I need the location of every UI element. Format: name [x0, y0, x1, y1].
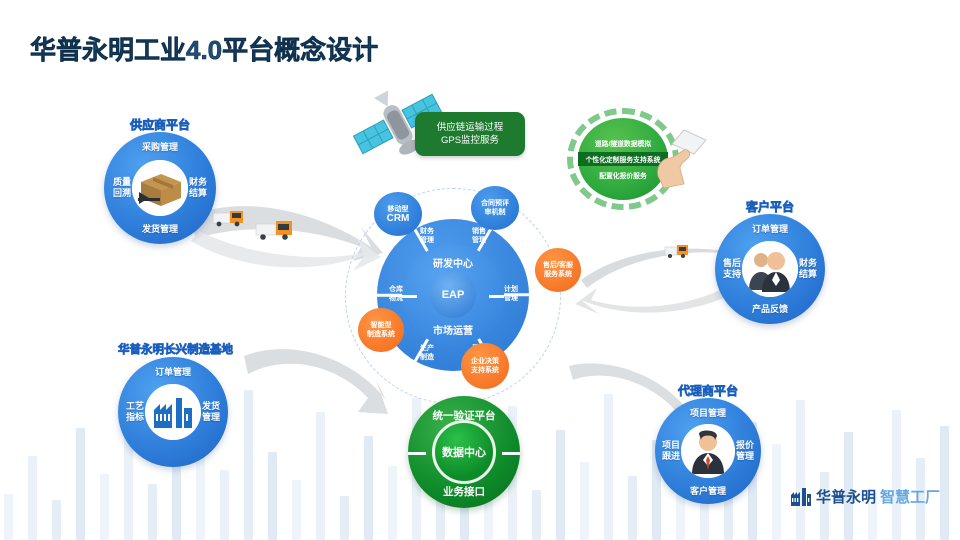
eap-inner-bottom-label: 市场运营 — [402, 322, 504, 337]
logo-name-dark: 华普永明 — [816, 486, 876, 507]
bubble-smart-mfg-line1: 智能型 — [371, 321, 392, 330]
two-people-icon — [745, 246, 795, 292]
custom-service-item-0: 道路/隧道数据模拟 — [595, 138, 651, 148]
bubble-contract-line2: 审机制 — [485, 208, 506, 217]
carton-box-icon — [135, 168, 185, 208]
agent-platform-left-label: 项目跟进 — [657, 440, 685, 462]
agent-platform-bottom-label: 客户管理 — [655, 486, 761, 497]
agent-platform-right-label: 报价管理 — [731, 440, 759, 462]
bubble-decision-line1: 企业决策 — [471, 357, 499, 366]
delivery-truck-icon-3 — [664, 243, 690, 259]
delivery-truck-icon-2 — [255, 218, 295, 242]
bubble-mobile-crm-line2: CRM — [387, 214, 410, 223]
background-bar — [940, 426, 949, 540]
slide-canvas: 华普永明工业4.0平台概念设计 — [0, 0, 960, 540]
manufacturing-base-top-label: 订单管理 — [118, 367, 228, 378]
hand-tablet-icon — [650, 124, 710, 192]
supplier-platform-hub — [132, 160, 188, 216]
manufacturing-base-left-label: 工艺指标 — [121, 401, 149, 423]
supplier-platform-bottom-label: 发货管理 — [104, 224, 216, 235]
data-center-bottom-label: 业务接口 — [408, 484, 520, 499]
background-bar — [76, 428, 85, 540]
manufacturing-base-title: 华普永明长兴制造基地 — [118, 341, 228, 357]
background-bar — [388, 466, 397, 540]
manufacturing-base-platform[interactable]: 华普永明长兴制造基地 订单管理 工艺指标 发货管理 — [118, 357, 228, 467]
bubble-smart-mfg-line2: 制造系统 — [367, 330, 395, 339]
custom-service-item-2: 配置化报价服务 — [599, 170, 647, 180]
page-title: 华普永明工业4.0平台概念设计 — [30, 30, 378, 67]
eap-ring-label-production: 生产制造 — [414, 345, 440, 362]
background-bar — [292, 480, 301, 540]
supplier-platform-right-label: 财务结算 — [184, 177, 212, 199]
supplier-platform-left-label: 质量回溯 — [108, 177, 136, 199]
manufacturing-base-right-label: 发货管理 — [197, 401, 225, 423]
background-bar — [148, 484, 157, 540]
supplier-platform-title: 供应商平台 — [104, 116, 216, 133]
background-bar — [580, 462, 589, 540]
background-bar — [364, 436, 373, 540]
gps-banner-line2: GPS监控服务 — [441, 134, 499, 147]
brand-logo: 华普永明 智慧工厂 — [790, 486, 940, 507]
background-bar — [628, 476, 637, 540]
bubble-contract-pre-review[interactable]: 合同预评 审机制 — [471, 186, 519, 230]
eap-core: EAP — [430, 272, 476, 318]
background-bar — [100, 474, 109, 540]
background-bar — [340, 496, 349, 540]
bubble-contract-line1: 合同预评 — [481, 199, 509, 208]
background-bar — [772, 444, 781, 540]
logo-name-light: 智慧工厂 — [880, 486, 940, 507]
background-bar — [892, 410, 901, 540]
eap-inner-top-label: 研发中心 — [402, 255, 504, 270]
customer-platform-bottom-label: 产品反馈 — [715, 304, 825, 315]
delivery-truck-icon-1 — [212, 208, 246, 228]
background-bar — [556, 430, 565, 540]
supplier-platform-top-label: 采购管理 — [104, 142, 216, 153]
background-bar — [796, 400, 805, 540]
bubble-aftersales-service[interactable]: 售后/客服 服务系统 — [535, 248, 581, 292]
agent-platform[interactable]: 代理商平台 项目管理 项目跟进 报价管理 客户管理 — [655, 398, 761, 504]
bubble-smart-manufacturing[interactable]: 智能型 制造系统 — [358, 308, 404, 352]
eap-ring-label-finance: 财务管理 — [414, 228, 440, 245]
customer-platform-left-label: 售后支持 — [718, 258, 746, 280]
bubble-decision-line2: 支持系统 — [471, 366, 499, 375]
data-center-core: 数据中心 — [432, 420, 496, 484]
agent-platform-top-label: 项目管理 — [655, 408, 761, 419]
bubble-mobile-crm[interactable]: 移动型 CRM — [374, 192, 422, 236]
eap-ring-label-warehouse: 仓库物流 — [383, 286, 409, 303]
background-bar — [28, 456, 37, 540]
gps-monitoring-banner: 供应链运输过程 GPS监控服务 — [415, 112, 525, 156]
bubble-aftersales-line1: 售后/客服 — [543, 261, 573, 270]
customer-platform-top-label: 订单管理 — [715, 224, 825, 235]
background-bar — [268, 452, 277, 540]
customer-platform-title: 客户平台 — [715, 198, 825, 215]
gps-banner-line1: 供应链运输过程 — [437, 121, 504, 134]
customer-platform[interactable]: 客户平台 订单管理 售后支持 财务结算 产品反馈 — [715, 214, 825, 324]
factory-icon — [152, 394, 194, 430]
agent-platform-hub — [681, 424, 735, 478]
factory-logo-icon — [790, 487, 812, 507]
bubble-aftersales-line2: 服务系统 — [544, 270, 572, 279]
supplier-platform[interactable]: 供应商平台 采购管理 质量回溯 财务结算 发货管理 — [104, 132, 216, 244]
customer-platform-hub — [742, 241, 798, 297]
eap-ring-label-planning: 计划管理 — [498, 286, 524, 303]
eap-ring-label-sales: 销售管理 — [466, 228, 492, 245]
background-bar — [52, 500, 61, 540]
data-center-gap-right — [502, 452, 520, 455]
agent-platform-title: 代理商平台 — [655, 382, 761, 399]
background-bar — [4, 494, 13, 540]
data-center-gap-left — [408, 452, 426, 455]
background-bar — [220, 470, 229, 540]
customer-platform-right-label: 财务结算 — [794, 258, 822, 280]
background-bar — [532, 490, 541, 540]
businessman-icon — [685, 428, 731, 474]
bubble-decision-support[interactable]: 企业决策 支持系统 — [461, 343, 509, 389]
manufacturing-base-hub — [145, 384, 201, 440]
